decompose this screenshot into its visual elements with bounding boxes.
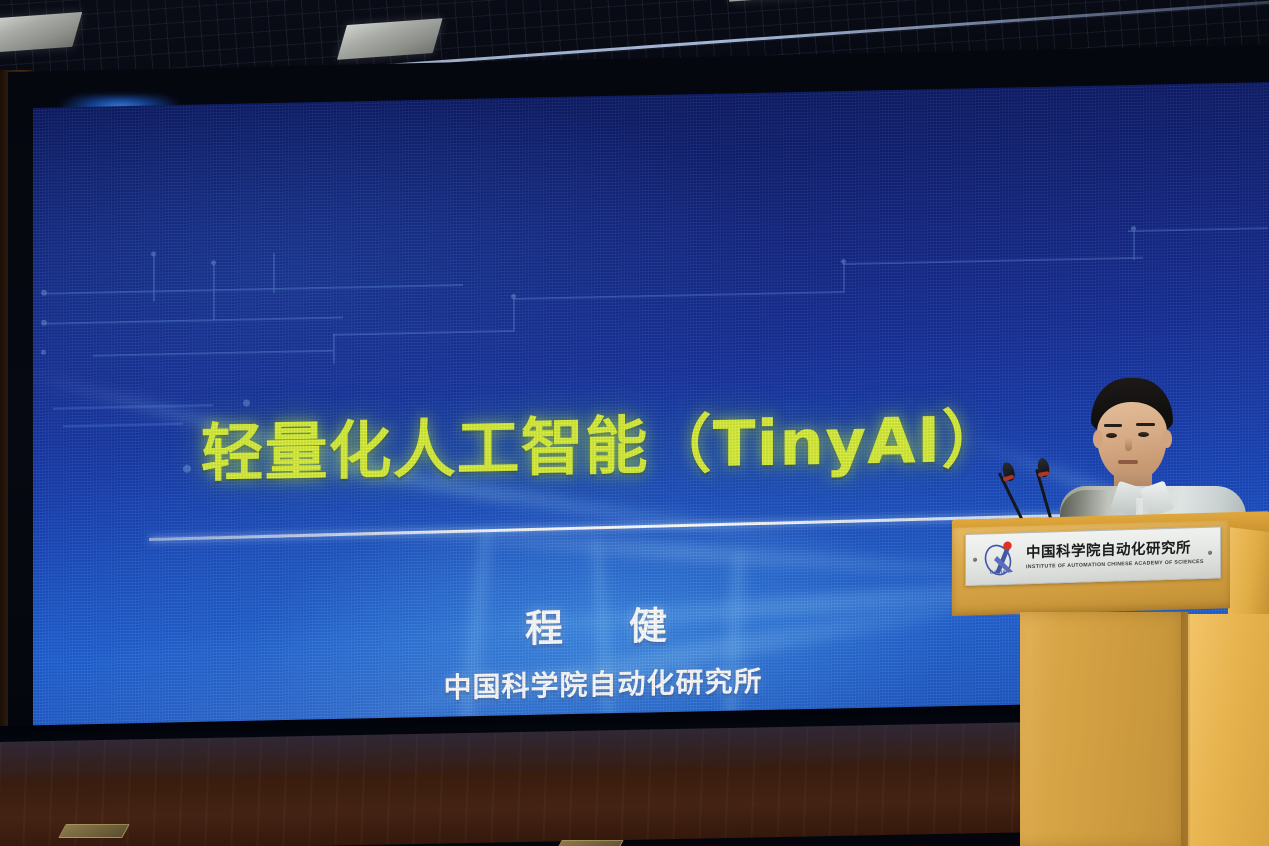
ceiling-light-panel bbox=[729, 0, 839, 2]
presenter-eye bbox=[1138, 432, 1149, 437]
presenter-face bbox=[1097, 402, 1167, 480]
plaque-text-block: 中国科学院自动化研究所 INSTITUTE OF AUTOMATION CHIN… bbox=[1026, 541, 1208, 570]
plaque-screw bbox=[1208, 551, 1212, 555]
presentation-photo-scene: 轻量化人工智能（TinyAI） 程 健 中国科学院自动化研究所 bbox=[0, 0, 1269, 846]
presenter-ear bbox=[1093, 430, 1103, 448]
podium-plaque: CASIA 中国科学院自动化研究所 INSTITUTE OF AUTOMATIO… bbox=[965, 526, 1221, 586]
casia-logo: CASIA bbox=[983, 539, 1023, 578]
presenter-mouth bbox=[1118, 460, 1138, 464]
presenter-eyebrow bbox=[1104, 424, 1122, 427]
presenter-ear bbox=[1162, 430, 1172, 448]
ceiling-light-panel bbox=[0, 12, 82, 53]
ceiling-light-panel bbox=[337, 18, 443, 60]
presenter-nose bbox=[1125, 438, 1132, 451]
podium-column-side bbox=[1188, 614, 1269, 846]
podium-column-edge bbox=[1181, 612, 1190, 846]
podium-column bbox=[1020, 612, 1188, 846]
floor-outlet bbox=[554, 840, 623, 846]
presenter-eye bbox=[1106, 433, 1117, 438]
svg-text:CASIA: CASIA bbox=[990, 569, 1007, 574]
plaque-screw bbox=[973, 558, 977, 562]
presenter-eyebrow bbox=[1136, 423, 1155, 426]
floor-outlet bbox=[58, 824, 129, 838]
podium-side-panel bbox=[1228, 527, 1269, 628]
